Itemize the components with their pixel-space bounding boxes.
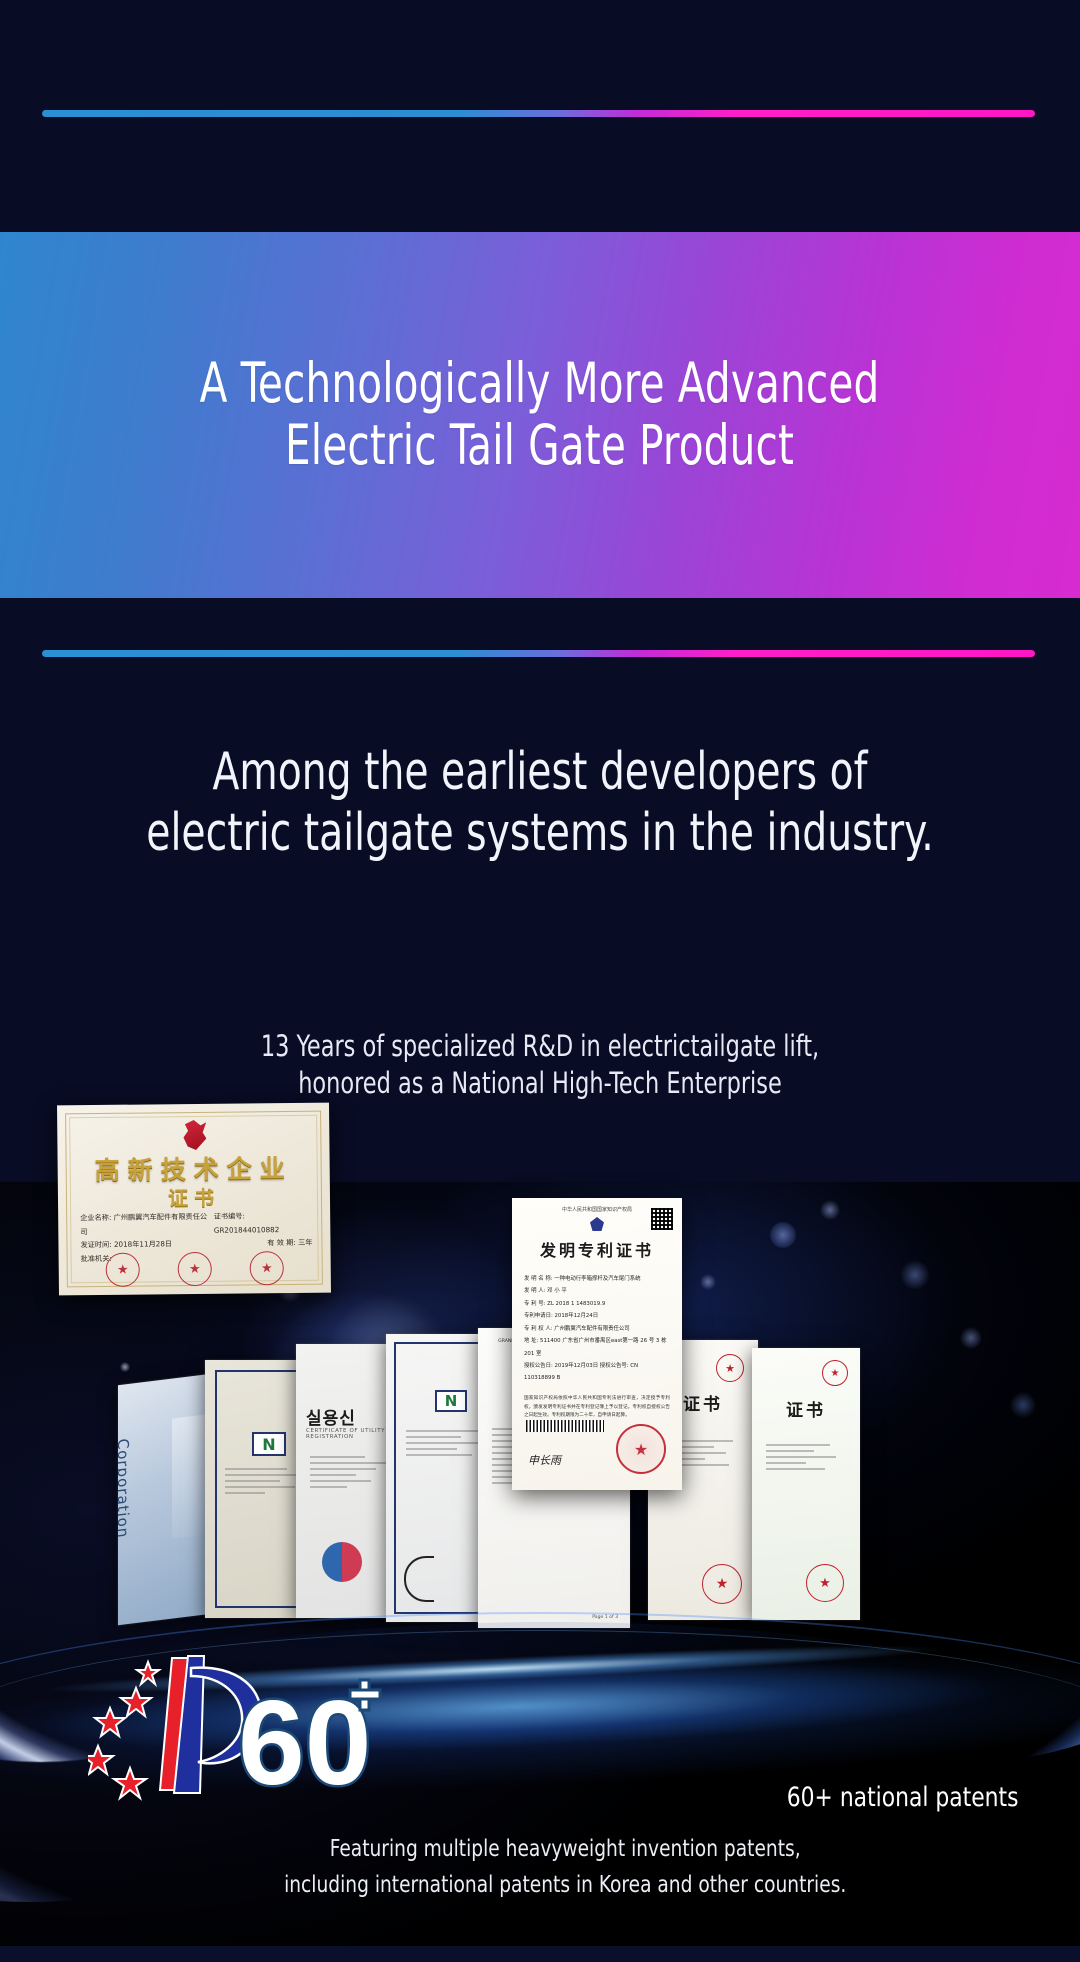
red-seal-icon: ★ [822,1360,848,1386]
page-title: Among the earliest developers of electri… [86,742,993,864]
official-red-seal-icon: ★ [616,1424,666,1474]
patent-field: 专 利 号: ZL 2018 1 1483019.9 [524,1298,670,1310]
red-seal-icon: ★ [178,1252,212,1286]
certificate-emblem: N [435,1390,467,1412]
red-seal-icon: ★ [106,1253,140,1287]
red-seal-icon: ★ [250,1251,284,1285]
patent-field: 专利申请日: 2018年12月24日 [524,1310,670,1322]
patent-field: 授权公告日: 2019年12月03日 授权公告号: CN 110318899 B [524,1360,670,1385]
certificate-label: 证书 [683,1390,723,1415]
invention-patent-certificate: 中华人民共和国国家知识产权局 发明专利证书 发 明 名 称: 一种电动行李箱撑杆… [512,1198,682,1490]
bottom-strip [0,1946,1080,1962]
certificate-subtitle: 证书 [58,1181,330,1213]
patent-title: 发明专利证书 [512,1237,682,1261]
page-subtitle: 13 Years of specialized R&D in electrict… [76,1028,1005,1102]
patent-field: 发 明 名 称: 一种电动行李箱撑杆及汽车尾门系统 [524,1273,670,1285]
barcode-icon [526,1420,604,1432]
qr-code-icon [651,1208,673,1230]
patent-field: 地 址: 511400 广东省广州市番禺区east第一路 26 号 3 栋 20… [524,1335,670,1360]
patent-body-text: 国家知识产权局依照中华人民共和国专利法进行审查，决定授予专利权，颁发发明专利证书… [524,1395,670,1421]
patent-signature: 申长雨 [528,1452,561,1468]
certificate-label: Corporation [118,1438,132,1540]
logo-svg: 60 [88,1638,418,1838]
cert-field-value: 有 效 期: 三年 [267,1236,312,1250]
poster-page: A Technologically More Advanced Electric… [0,0,1080,1962]
patent-issuer: 中华人民共和国国家知识产权局 [522,1206,672,1213]
hero-gradient-banner: A Technologically More Advanced Electric… [0,232,1080,598]
patent-office-emblem-icon [590,1217,604,1231]
certificate-emblem: N [252,1432,286,1456]
certificate-label: 실용신 [306,1404,356,1429]
cert-field-value: 证书编号: GR201844010882 [214,1209,313,1237]
patent-field: 发 明 人: 邓 小 平 [524,1285,670,1297]
banner-title: A Technologically More Advanced Electric… [200,353,880,476]
red-seal-icon: ★ [702,1564,742,1604]
high-tech-enterprise-certificate: 高新技术企业 证书 企业名称: 广州鹏翼汽车配件有限责任公司证书编号: GR20… [57,1103,331,1296]
star-cluster-icon [88,1662,159,1798]
patent-field: 专 利 权 人: 广州鹏翼汽车配件有限责任公司 [524,1323,670,1335]
red-seal-icon: ★ [806,1564,844,1602]
patents-headline: 60+ national patents [786,1782,1018,1813]
mid-gradient-divider [42,650,1035,657]
pengyi-p60-logo: 60 [88,1638,418,1838]
cert-field-label: 企业名称: 广州鹏翼汽车配件有限责任公司 [80,1210,214,1239]
certificate-label: 证书 [786,1396,826,1421]
top-gradient-divider [42,110,1035,117]
certificate-card: 证书 ★ ★ [752,1348,860,1620]
cert-field-label: 发证时间: 2018年11月28日 [80,1238,172,1253]
red-seal-icon: ★ [716,1354,744,1382]
patents-description: Featuring multiple heavyweight invention… [54,1832,1026,1903]
certificate-seals: ★ ★ ★ [87,1251,303,1287]
patent-fields: 发 明 名 称: 一种电动行李箱撑杆及汽车尾门系统 发 明 人: 邓 小 平 专… [524,1273,670,1385]
